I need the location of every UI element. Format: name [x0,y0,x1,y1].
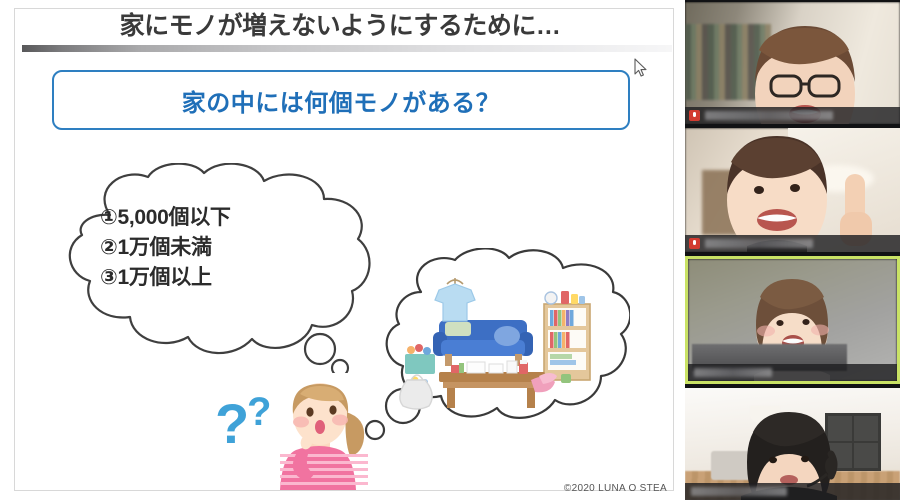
answers-thought-bubble: ①5,000個以下 ②1万個未満 ③1万個以上 [52,163,392,373]
svg-text:?: ? [215,392,249,455]
video-tile-1[interactable] [685,2,900,124]
answers-list: ①5,000個以下 ②1万個未満 ③1万個以上 [100,203,350,292]
participant-4-name-bar [685,483,900,500]
participant-1-avatar [685,2,900,124]
screen-root: 家にモノが増えないようにするために… 家の中には何個モノがある？ ①5,000個… [0,0,900,500]
answer-option-3: ③1万個以上 [100,263,350,293]
room-bubble-shape [355,248,630,448]
thinking-woman-illustration [268,372,378,490]
participant-2-name-bar [685,235,900,252]
slide-title: 家にモノが増えないようにするために… [40,9,640,43]
question-box: 家の中には何個モノがある？ [52,70,630,130]
participant-2-name-redacted [705,239,813,248]
copyright-notice: ©2020 LUNA O STEA [564,483,667,494]
video-tile-3[interactable] [685,256,900,384]
mouse-cursor [634,58,648,78]
participant-4-name-redacted [691,487,787,496]
mute-icon [689,238,700,249]
answer-option-2: ②1万個未満 [100,233,350,263]
title-underline-rule [22,45,672,52]
room-thought-bubble [355,248,630,448]
participant-1-name-bar [685,107,900,124]
video-tile-4[interactable] [685,388,900,500]
bookshelf-illustration [544,304,590,380]
participant-2-avatar [685,128,900,252]
video-tile-2[interactable] [685,128,900,252]
participant-1-name-redacted [705,111,833,120]
answer-option-1: ①5,000個以下 [100,203,350,233]
mute-icon [689,110,700,121]
participant-3-name-bar [688,364,897,381]
shared-screen-slide: 家にモノが増えないようにするために… 家の中には何個モノがある？ ①5,000個… [0,0,685,500]
participant-video-strip [685,0,900,500]
participant-3-name-redacted [694,368,772,377]
question-box-text: 家の中には何個モノがある？ [182,83,501,118]
